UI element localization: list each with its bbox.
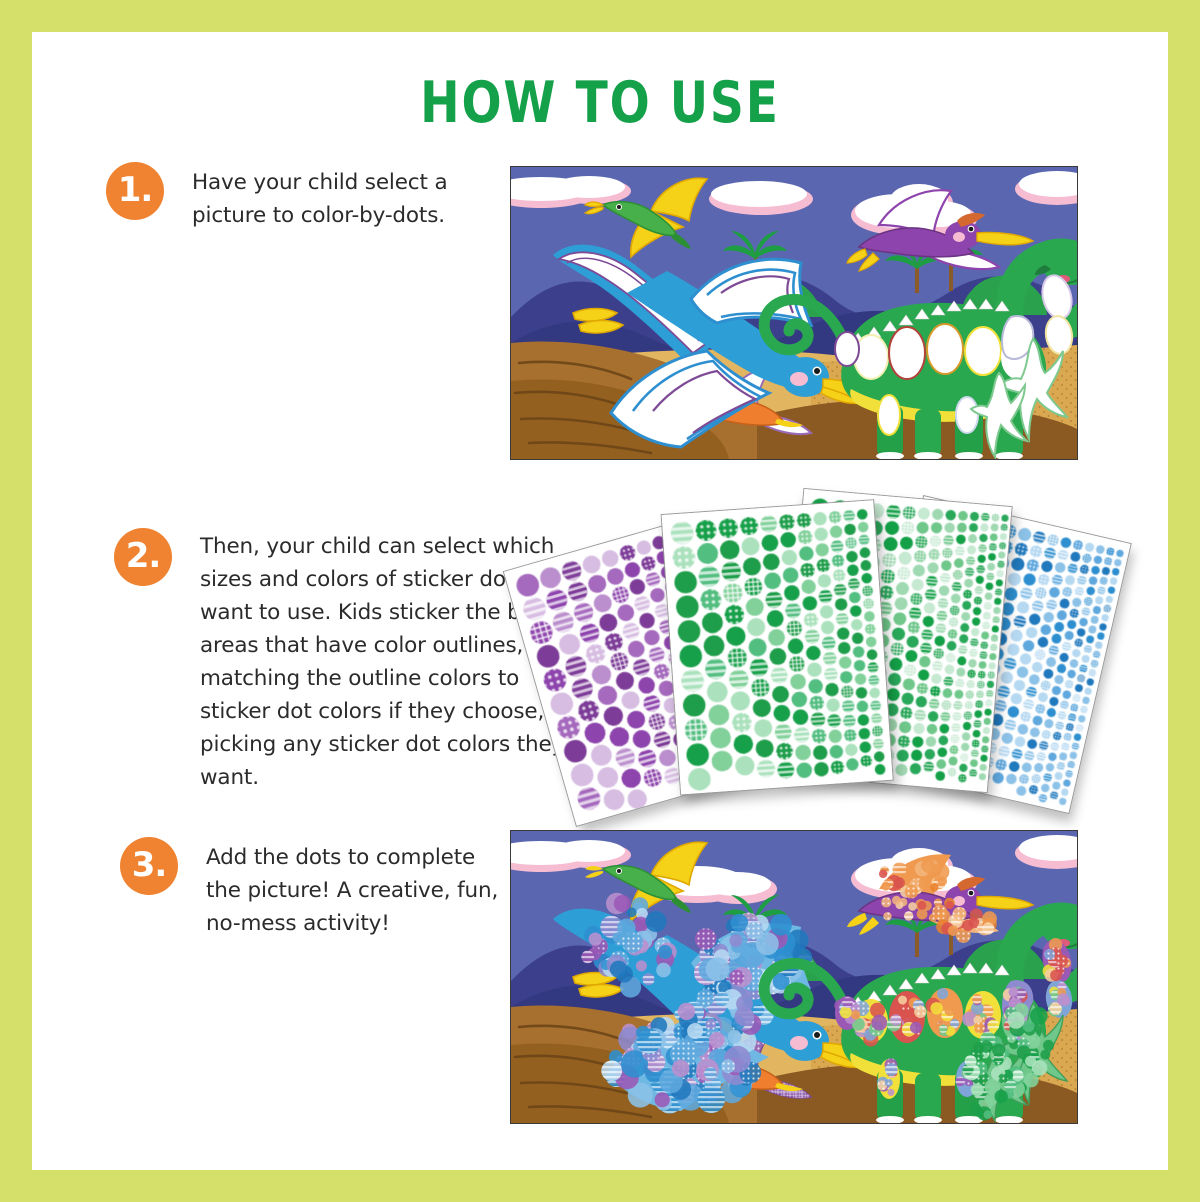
illustration-blank-dinosaur-scene	[510, 166, 1078, 460]
step-2-badge: 2.	[114, 528, 172, 586]
dinosaur-scene-completed-svg	[511, 831, 1077, 1123]
dinosaur-scene-blank-svg	[511, 167, 1077, 459]
sticker-sheets-group	[572, 484, 1092, 814]
step-1-text: Have your child select a picture to colo…	[192, 166, 492, 232]
illustration-completed-dinosaur-scene	[510, 830, 1078, 1124]
page-border: HOW TO USE 1. Have your child select a p…	[0, 0, 1200, 1202]
page-content: HOW TO USE 1. Have your child select a p…	[32, 32, 1168, 1170]
sticker-sheet-green-large[interactable]	[661, 499, 894, 795]
page-title: HOW TO USE	[77, 70, 1122, 136]
step-1-badge: 1.	[106, 162, 164, 220]
step-3-text: Add the dots to complete the picture! A …	[206, 841, 516, 940]
step-3-badge: 3.	[120, 837, 178, 895]
